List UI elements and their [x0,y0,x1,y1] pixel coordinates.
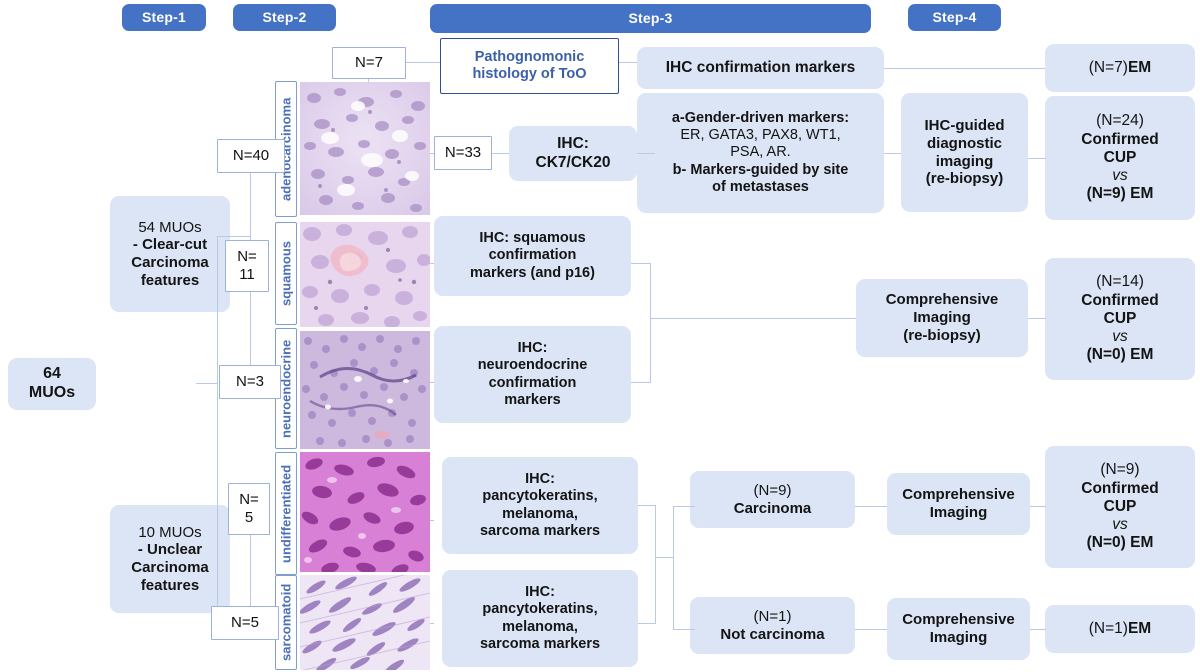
markers-line-4: b- Markers-guided by site [673,162,849,179]
node-outcome-confirmed-cup-9[interactable]: (N=9) Confirmed CUP vs (N=0) EM [1045,446,1195,568]
comp-imaging-2-line-1: Comprehensive [902,611,1015,629]
node-outcome-confirmed-cup-14[interactable]: (N=14) Confirmed CUP vs (N=0) EM [1045,258,1195,380]
node-outcome-confirmed-cup-24[interactable]: (N=24) Confirmed CUP vs (N=9) EM [1045,96,1195,220]
connector-carcinoma-imaging [855,506,887,507]
node-outcome-carcinoma[interactable]: (N=9) Carcinoma [690,471,855,528]
root-line-1: 64 [43,365,61,384]
connector-patho-ihcconf [619,62,637,63]
connector-bracket-vertical [650,263,651,383]
notcarcinoma-line-2: Not carcinoma [720,626,824,644]
cup14-line-4: vs [1112,328,1128,346]
comp-imaging-1-line-1: Comprehensive [902,486,1015,504]
cup9-line-2: Confirmed [1081,480,1159,498]
ihc-squamous-line-2: confirmation [489,247,577,264]
node-comprehensive-imaging-2[interactable]: Comprehensive Imaging [887,598,1030,660]
connector-to-carcinoma [673,506,695,507]
flowchart-canvas: Step-1 Step-2 Step-3 Step-4 64 MUOs 54 M… [0,0,1200,672]
node-pathognomonic-histology[interactable]: Pathognomonic histology of ToO [440,38,619,94]
connector-bottom-bracket-v2 [673,506,674,630]
node-outcome-not-carcinoma[interactable]: (N=1) Not carcinoma [690,597,855,654]
connector-notcarcinoma-imaging [855,629,887,630]
cup14-line-1: (N=14) [1096,273,1144,291]
connector-bottom-bracket-mid [655,557,674,558]
group-unclear-line-3: Carcinoma [131,559,209,577]
ihc-guided-line-1: IHC-guided [925,117,1005,135]
cup24-line-1: (N=24) [1096,112,1144,130]
connector-imaging-cup24 [1028,158,1046,159]
ihc-neuro-line-3: confirmation [489,375,577,392]
connector-root-out [196,383,218,384]
connector-to-notcarcinoma [673,629,695,630]
ihc-undiff-line-3: melanoma, [502,506,578,523]
connector-root-spine [217,236,218,634]
cup14-line-3: CUP [1104,310,1137,328]
connector-n33-ihcck [492,153,509,154]
ihc-guided-line-4: (re-biopsy) [926,170,1004,188]
em7-suffix: EM [1128,59,1151,77]
group-unclear-line-1: 10 MUOs [138,524,201,542]
count-box-n5-sarcomatoid[interactable]: N=5 [211,606,279,640]
connector-markers-imaging [884,153,901,154]
node-comprehensive-imaging-1[interactable]: Comprehensive Imaging [887,473,1030,535]
ihc-neuro-line-1: IHC: [518,340,548,357]
count-n5a-line-1: N= [239,491,259,509]
ihc-sarco-line-2: pancytokeratins, [482,601,597,618]
cup24-line-2: Confirmed [1081,131,1159,149]
category-label-undifferentiated: undifferentiated [275,452,297,575]
group-clearcut-line-4: features [141,272,199,290]
ihc-neuro-line-4: markers [504,392,560,409]
count-box-n33[interactable]: N=33 [434,136,492,170]
connector-ihcundiff-out [638,505,656,506]
ihc-undiff-line-1: IHC: [525,471,555,488]
ihc-ck-line-2: CK7/CK20 [536,154,611,172]
connector-n7-right [406,62,440,63]
histology-image-adenocarcinoma [300,82,430,215]
root-line-2: MUOs [29,384,75,403]
connector-ihcsarco-out [638,623,656,624]
group-unclear-carcinoma[interactable]: 10 MUOs - Unclear Carcinoma features [110,505,230,613]
pathognomonic-line-2: histology of ToO [472,66,586,83]
node-ihc-neuroendocrine-markers[interactable]: IHC: neuroendocrine confirmation markers [434,326,631,423]
ihc-sarco-line-3: melanoma, [502,619,578,636]
ihc-squamous-line-3: markers (and p16) [470,265,595,282]
node-marker-panel[interactable]: a-Gender-driven markers: ER, GATA3, PAX8… [637,93,884,213]
em7-prefix: (N=7) [1089,59,1128,77]
ihc-sarco-line-1: IHC: [525,584,555,601]
count-box-n3[interactable]: N=3 [219,365,281,399]
step-header-2[interactable]: Step-2 [233,4,336,31]
node-ihc-ck7-ck20[interactable]: IHC: CK7/CK20 [509,126,637,181]
connector-imaging-cup14 [1028,318,1046,319]
step-header-3[interactable]: Step-3 [430,4,871,33]
cup9-line-4: vs [1112,516,1128,534]
connector-ihcck-markers [637,153,655,154]
count-n11-line-1: N= [237,248,257,266]
group-clearcut-line-3: Carcinoma [131,254,209,272]
ihc-sarco-line-4: sarcoma markers [480,636,600,653]
histology-image-sarcomatoid [300,575,430,670]
cup14-line-2: Confirmed [1081,292,1159,310]
node-outcome-em-7[interactable]: (N=7) EM [1045,44,1195,92]
cup9-line-1: (N=9) [1100,461,1139,479]
em1-suffix: EM [1128,620,1151,638]
node-comprehensive-imaging-rebiopsy[interactable]: Comprehensive Imaging (re-biopsy) [856,279,1028,357]
group-unclear-line-2: - Unclear [138,541,202,559]
group-unclear-line-4: features [141,577,199,595]
markers-line-3: PSA, AR. [730,144,790,161]
histology-image-neuroendocrine [300,331,430,449]
histology-image-undifferentiated [300,452,430,572]
count-n11-line-2: 11 [239,266,255,284]
markers-line-2: ER, GATA3, PAX8, WT1, [680,127,840,144]
connector-bracket-to-imaging [650,318,856,319]
cup24-line-3: CUP [1104,149,1137,167]
cup14-line-5: (N=0) EM [1087,346,1154,364]
connector-clearcut-out [229,236,251,237]
node-outcome-em-1[interactable]: (N=1) EM [1045,605,1195,653]
cup9-line-3: CUP [1104,498,1137,516]
node-ihc-squamous-markers[interactable]: IHC: squamous confirmation markers (and … [434,216,631,296]
root-node-64-muos[interactable]: 64 MUOs [8,358,96,410]
ihc-guided-line-2: diagnostic [927,135,1002,153]
comp-imaging-1-line-2: Imaging [930,504,988,522]
markers-line-1: a-Gender-driven markers: [672,110,849,127]
ihc-undiff-line-4: sarcoma markers [480,523,600,540]
comp-imaging-2-line-2: Imaging [930,629,988,647]
connector-imaging-cup9 [1030,506,1046,507]
notcarcinoma-line-1: (N=1) [754,608,792,626]
ihc-guided-line-3: imaging [936,153,994,171]
count-box-n5-undifferentiated[interactable]: N= 5 [228,483,270,535]
step-header-1[interactable]: Step-1 [122,4,206,31]
comp-imaging-rb-line-1: Comprehensive [886,291,999,309]
ihc-squamous-line-1: IHC: squamous [479,230,585,247]
count-n5a-line-2: 5 [245,509,253,527]
count-box-n11[interactable]: N= 11 [225,240,269,292]
category-label-squamous: squamous [275,222,297,325]
ihc-ck-line-1: IHC: [557,135,589,153]
group-clearcut-line-2: - Clear-cut [133,236,207,254]
connector-ihcconf-em7 [884,68,1045,69]
node-ihc-confirmation-markers[interactable]: IHC confirmation markers [637,47,884,89]
count-box-n40[interactable]: N=40 [217,139,285,173]
group-clearcut-line-1: 54 MUOs [138,219,201,237]
carcinoma-line-2: Carcinoma [734,500,812,518]
markers-line-5: of metastases [712,179,809,196]
connector-ihcneuro-bracket [631,382,651,383]
node-ihc-undifferentiated-markers[interactable]: IHC: pancytokeratins, melanoma, sarcoma … [442,457,638,554]
node-ihc-guided-imaging[interactable]: IHC-guided diagnostic imaging (re-biopsy… [901,93,1028,212]
comp-imaging-rb-line-3: (re-biopsy) [903,327,981,345]
histology-image-squamous [300,222,430,327]
cup24-line-4: vs [1112,167,1128,185]
comp-imaging-rb-line-2: Imaging [913,309,971,327]
count-box-n7[interactable]: N=7 [332,47,406,79]
step-header-4[interactable]: Step-4 [908,4,1001,31]
connector-ihcsq-bracket [631,263,651,264]
cup24-line-5: (N=9) EM [1087,185,1154,203]
ihc-undiff-line-2: pancytokeratins, [482,488,597,505]
connector-imaging-em1 [1030,629,1046,630]
node-ihc-sarcomatoid-markers[interactable]: IHC: pancytokeratins, melanoma, sarcoma … [442,570,638,667]
connector-bottom-bracket-v1 [655,505,656,624]
pathognomonic-line-1: Pathognomonic [475,49,585,66]
cup9-line-5: (N=0) EM [1087,534,1154,552]
group-clear-cut-carcinoma[interactable]: 54 MUOs - Clear-cut Carcinoma features [110,196,230,312]
em1-prefix: (N=1) [1089,620,1128,638]
ihc-neuro-line-2: neuroendocrine [478,357,588,374]
carcinoma-line-1: (N=9) [754,482,792,500]
